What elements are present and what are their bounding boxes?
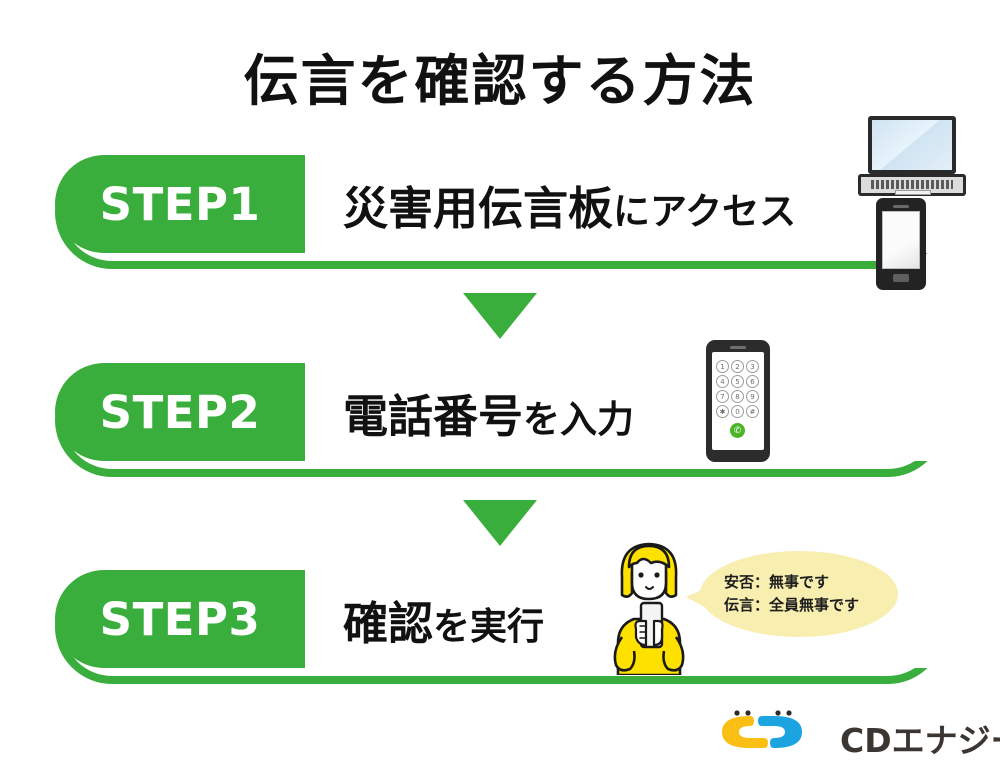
page-title: 伝言を確認する方法 xyxy=(0,36,1000,116)
dialpad-keys: 1 2 3 4 5 6 7 8 9 ✱ 0 # xyxy=(716,360,760,418)
logo-d-eye-left xyxy=(775,710,780,715)
step-text-3: 確認を実行 xyxy=(343,587,544,652)
logo-d-eye-right xyxy=(786,710,791,715)
infographic-page: 伝言を確認する方法 STEP1 災害用伝言板にアクセス STEP2 xyxy=(0,0,1000,770)
step-badge-label-3: STEP3 xyxy=(100,593,261,646)
dialpad-key: 6 xyxy=(746,375,759,388)
dialpad-key: 2 xyxy=(731,360,744,373)
dialpad-key: 0 xyxy=(731,405,744,418)
call-button-icon: ✆ xyxy=(730,423,745,438)
woman-eye-left xyxy=(638,572,643,577)
laptop-base xyxy=(858,174,966,196)
step-row-1: STEP1 災害用伝言板にアクセス xyxy=(55,155,945,269)
logo-text: CDエナジー xyxy=(840,714,1000,762)
arrow-down-icon-1 xyxy=(463,293,537,339)
speech-bubble-line-2: 伝言：全員無事です xyxy=(724,594,898,617)
step-body-2: 電話番号を入力 xyxy=(305,363,945,461)
woman-hand-left xyxy=(636,621,647,645)
laptop-screen xyxy=(868,116,956,174)
step-text-main-2: 電話番号 xyxy=(343,390,523,443)
step-badge-3: STEP3 xyxy=(55,570,305,668)
laptop-keyboard xyxy=(871,180,953,189)
step-badge-1: STEP1 xyxy=(55,155,305,253)
step-text-2: 電話番号を入力 xyxy=(343,380,634,445)
dialpad-key: # xyxy=(746,405,759,418)
dialpad-key: 4 xyxy=(716,375,729,388)
logo-c-eye-right xyxy=(745,710,750,715)
woman-eye-right xyxy=(654,572,659,577)
logo-c-eye-left xyxy=(734,710,739,715)
dialpad-key: 9 xyxy=(746,390,759,403)
dialpad-phone-icon: 1 2 3 4 5 6 7 8 9 ✱ 0 # ✆ xyxy=(706,340,770,462)
step-badge-label-2: STEP2 xyxy=(100,386,261,439)
smartphone-screen xyxy=(882,211,920,269)
laptop-trackpad xyxy=(895,190,931,195)
dialpad-key: 3 xyxy=(746,360,759,373)
step-text-small-3: を実行 xyxy=(433,605,544,648)
speech-bubble: 安否：無事です 伝言：全員無事です xyxy=(700,551,898,637)
laptop-icon xyxy=(858,116,966,196)
step-text-main-3: 確認 xyxy=(343,597,433,650)
step-text-1: 災害用伝言板にアクセス xyxy=(343,172,796,237)
dialpad-key: 5 xyxy=(731,375,744,388)
cd-energy-mark-icon xyxy=(712,706,832,756)
cd-energy-logo: CDエナジー xyxy=(712,706,990,760)
step-text-small-2: を入力 xyxy=(523,398,634,441)
step-text-main-1: 災害用伝言板 xyxy=(343,182,613,235)
dialpad-key: 1 xyxy=(716,360,729,373)
step-badge-2: STEP2 xyxy=(55,363,305,461)
smartphone-home-button xyxy=(893,274,909,282)
arrow-down-icon-2 xyxy=(463,500,537,546)
dialpad-key: ✱ xyxy=(716,405,729,418)
step-badge-label-1: STEP1 xyxy=(100,178,261,231)
dialpad-key: 7 xyxy=(716,390,729,403)
speech-bubble-line-1: 安否：無事です xyxy=(724,571,898,594)
dialpad-key: 8 xyxy=(731,390,744,403)
woman-hand-right xyxy=(654,621,663,645)
step-row-2: STEP2 電話番号を入力 xyxy=(55,363,945,477)
smartphone-icon xyxy=(876,198,926,290)
step-body-1: 災害用伝言板にアクセス xyxy=(305,155,945,253)
dialpad-phone-speaker xyxy=(730,346,746,349)
step-text-small-1: にアクセス xyxy=(613,190,796,233)
smartphone-speaker xyxy=(893,205,909,208)
